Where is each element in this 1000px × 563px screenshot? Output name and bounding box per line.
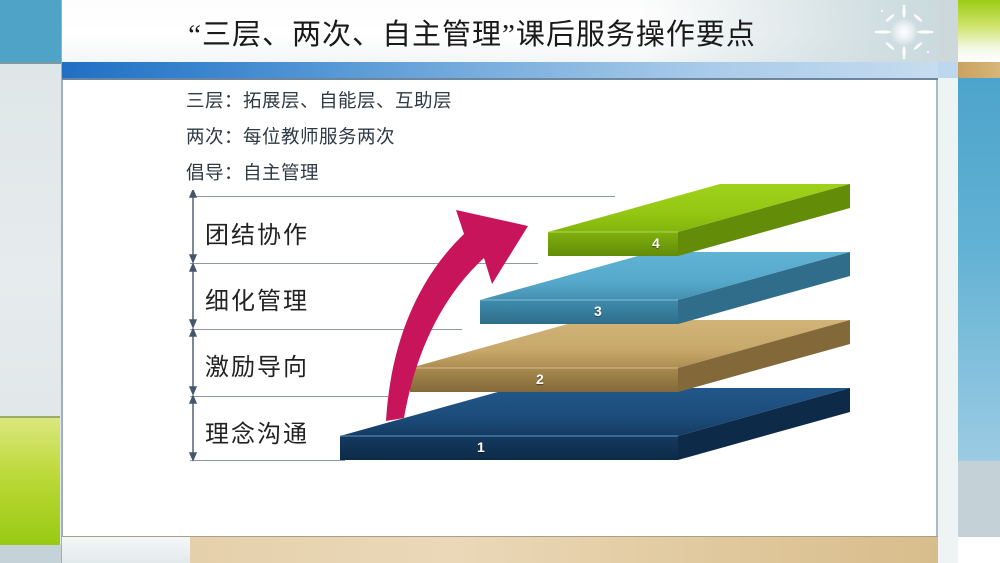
slab-number-1: 1 <box>477 439 485 455</box>
slab-number-4: 4 <box>652 235 660 251</box>
bottom-tan-band <box>190 537 938 563</box>
slab-4 <box>548 184 850 256</box>
measure-axis-icon <box>182 190 204 465</box>
guide-line <box>190 460 345 461</box>
slab-number-3: 3 <box>594 303 602 319</box>
growth-arrow-icon <box>360 178 580 423</box>
bottom-grey-block <box>62 537 190 563</box>
layers-diagram: 团结协作 细化管理 激励导向 理念沟通 <box>0 0 1000 563</box>
slide-canvas: “三层、两次、自主管理”课后服务操作要点 三层：拓展层、自能层、互助层 两次：每… <box>0 0 1000 563</box>
